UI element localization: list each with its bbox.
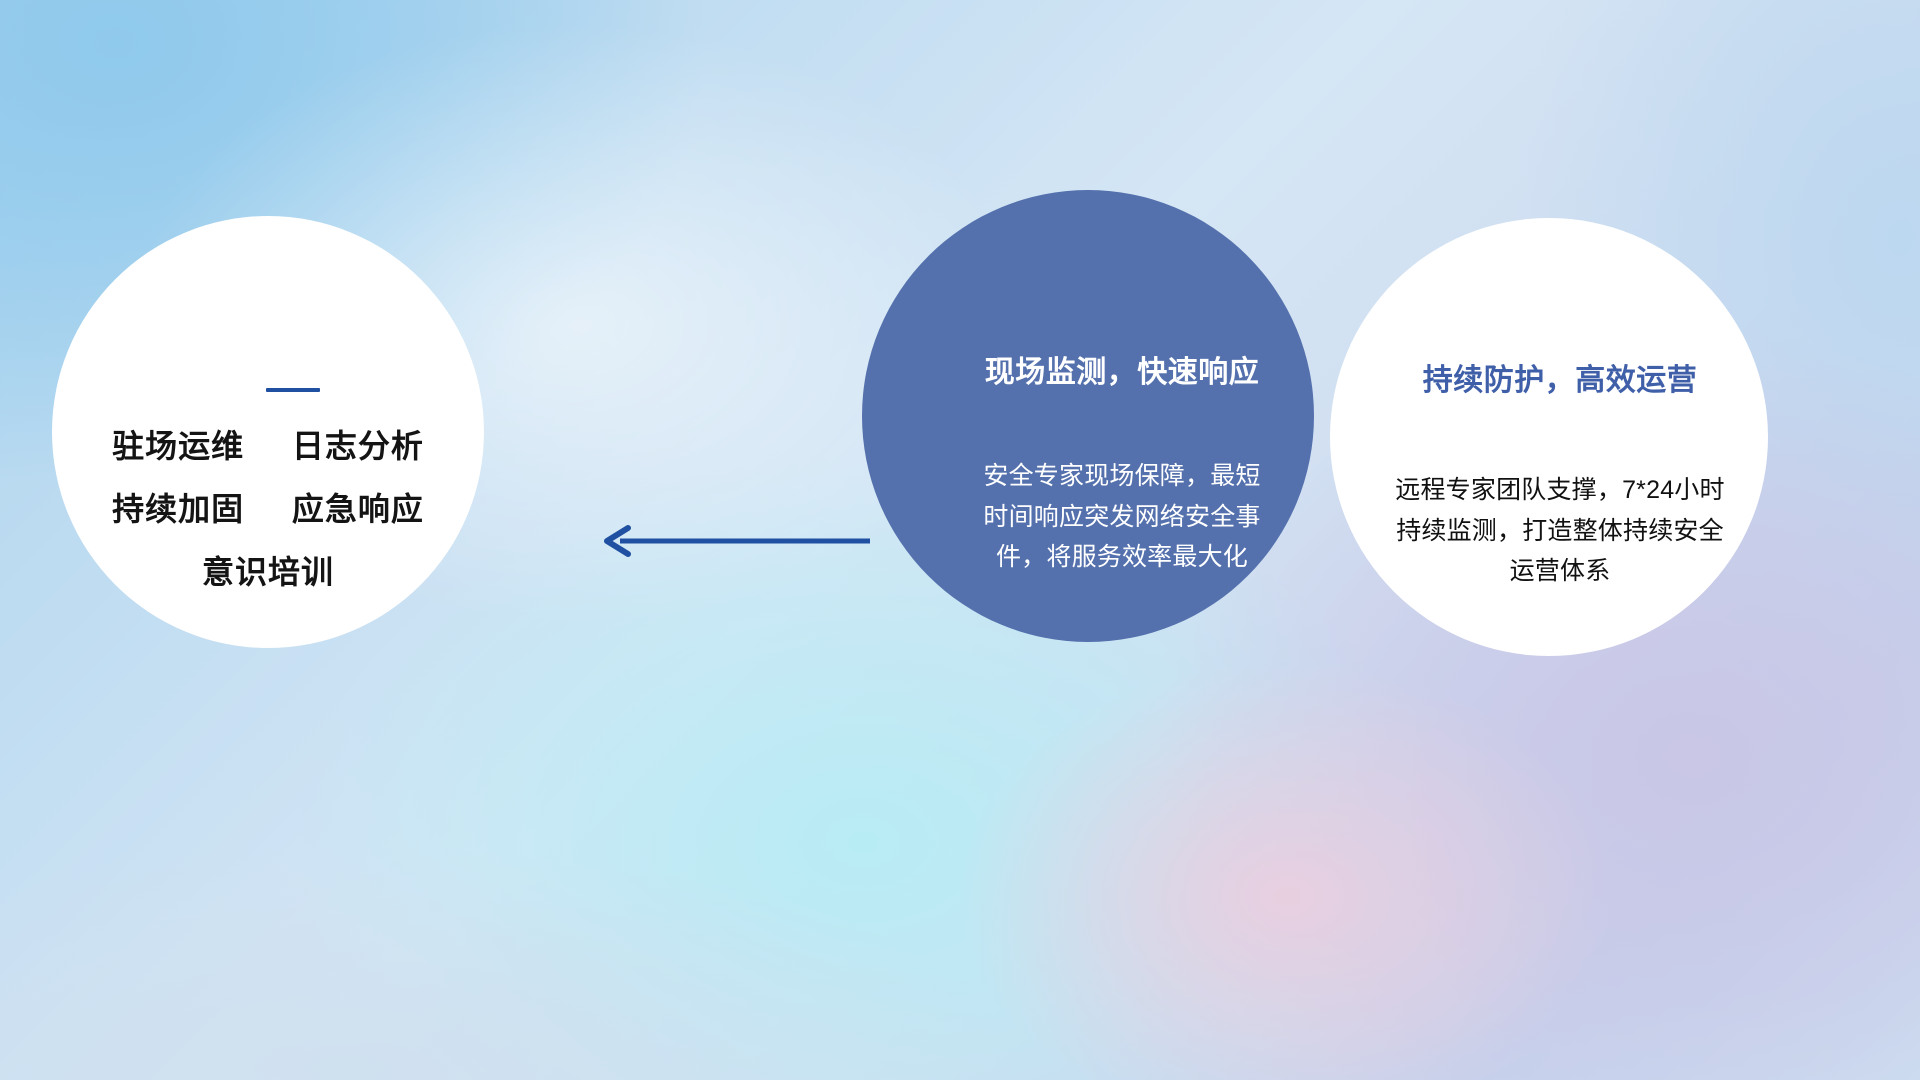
arrow-left-icon	[598, 524, 870, 558]
capability-label-awareness-training: 意识培训	[202, 554, 334, 590]
left-circle-content: 驻场运维 日志分析 持续加固 应急响应 意识培训	[52, 388, 484, 588]
middle-circle-content: 现场监测，快速响应 安全专家现场保障，最短时间响应突发网络安全事件，将服务效率最…	[862, 190, 1314, 642]
divider-dash	[266, 388, 320, 392]
capability-row-2: 持续加固 应急响应	[112, 493, 424, 525]
capability-row-3: 意识培训	[202, 556, 334, 588]
capability-label-onsite-ops: 驻场运维	[112, 428, 244, 464]
capability-label-log-analysis: 日志分析	[292, 428, 424, 464]
capability-circle-left[interactable]: 驻场运维 日志分析 持续加固 应急响应 意识培训	[52, 216, 484, 648]
capability-row-1: 驻场运维 日志分析	[112, 430, 424, 462]
service-circle-remote[interactable]: 持续防护，高效运营 远程专家团队支撑，7*24小时持续监测，打造整体持续安全运营…	[1330, 218, 1768, 656]
middle-circle-body: 安全专家现场保障，最短时间响应突发网络安全事件，将服务效率最大化	[981, 456, 1263, 578]
service-circle-onsite[interactable]: 现场监测，快速响应 安全专家现场保障，最短时间响应突发网络安全事件，将服务效率最…	[862, 190, 1314, 642]
middle-circle-heading: 现场监测，快速响应	[985, 358, 1260, 388]
right-circle-content: 持续防护，高效运营 远程专家团队支撑，7*24小时持续监测，打造整体持续安全运营…	[1330, 218, 1768, 656]
capability-label-continuous-hardening: 持续加固	[112, 491, 244, 527]
capability-label-emergency-response: 应急响应	[292, 491, 424, 527]
right-circle-heading: 持续防护，高效运营	[1423, 366, 1698, 396]
slide-canvas: 驻场运维 日志分析 持续加固 应急响应 意识培训 现场监测，快速响应 安全专家现…	[0, 0, 1920, 1080]
right-circle-body: 远程专家团队支撑，7*24小时持续监测，打造整体持续安全运营体系	[1384, 470, 1736, 592]
